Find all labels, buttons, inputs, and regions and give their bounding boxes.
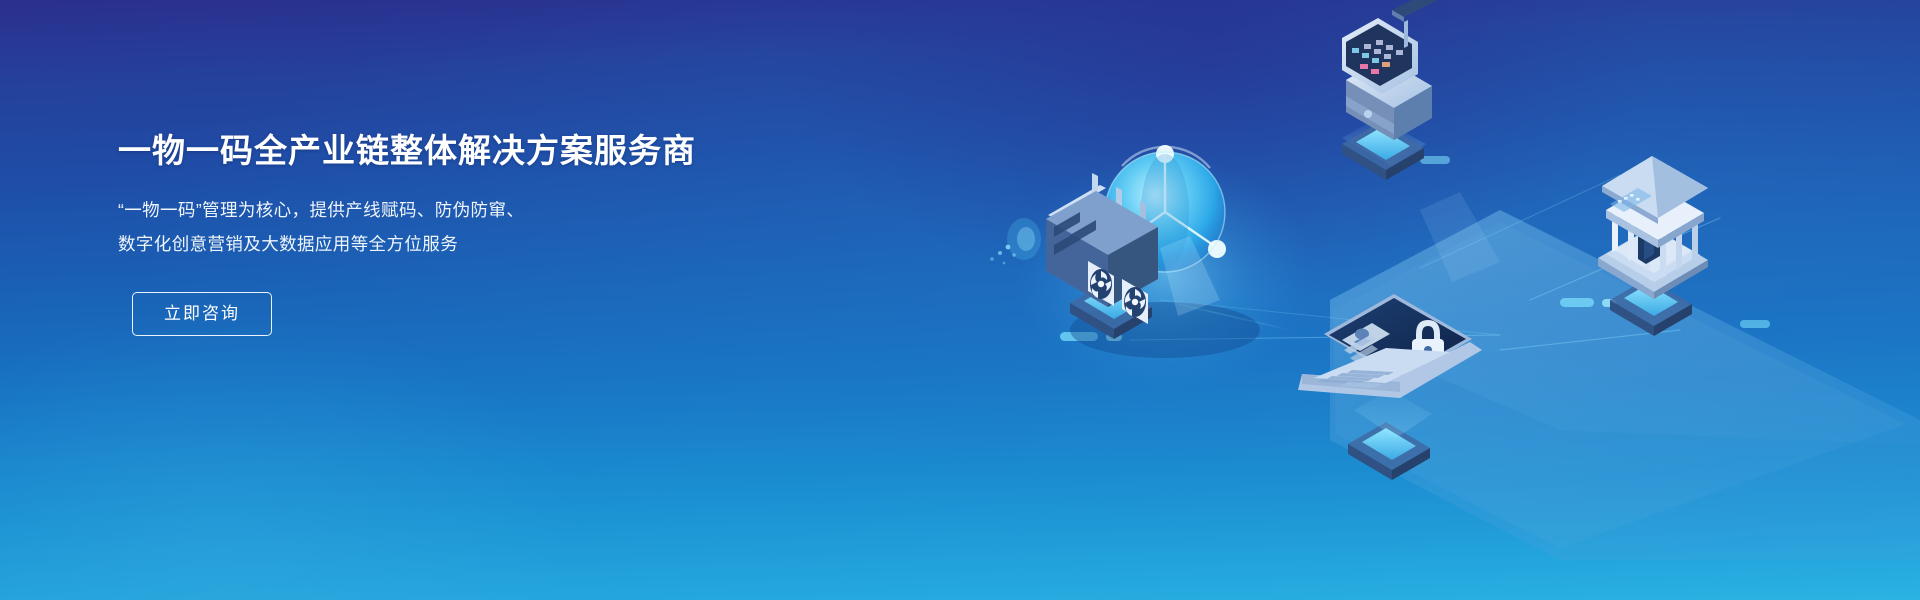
pedestal-pad [1342,122,1424,180]
connection-lines [1130,175,1720,350]
lock-icon [1412,320,1444,365]
isometric-illustration [860,0,1920,600]
server-grille [1054,212,1096,255]
background-glow-left [0,300,600,600]
airflow-particles [990,218,1041,264]
cooling-fan-icons [1088,261,1148,324]
server-rack-icon [990,173,1158,339]
bank-building-icon [1598,156,1708,336]
consult-now-button[interactable]: 立即咨询 [132,292,272,336]
bank-columns [1612,213,1698,279]
network-globe-icon [1015,145,1315,395]
hero-banner: 一物一码全产业链整体解决方案服务商 “一物一码”管理为核心，提供产线赋码、防伪防… [0,0,1920,600]
pos-terminal-icon [1342,0,1444,180]
pedestal-pad [1610,246,1696,336]
server-rails [1048,173,1146,250]
data-packet-icons [1060,156,1770,341]
pedestal-pad [1070,255,1154,339]
page-title: 一物一码全产业链整体解决方案服务商 [118,130,758,171]
hero-copy: 一物一码全产业链整体解决方案服务商 “一物一码”管理为核心，提供产线赋码、防伪防… [118,130,758,336]
pos-keypad [1352,40,1403,74]
hero-subtitle-line-2: 数字化创意营销及大数据应用等全方位服务 [118,227,758,261]
hero-subtitle: “一物一码”管理为核心，提供产线赋码、防伪防窜、 数字化创意营销及大数据应用等全… [118,193,758,261]
laptop-security-icon [1298,294,1482,480]
isometric-plate [1330,210,1920,560]
background-glow-top [760,0,1660,300]
plate-reflections [1160,192,1500,316]
profile-card [1342,323,1390,362]
pedestal-pad [1348,390,1432,480]
keyboard-keys [1317,370,1394,384]
hero-subtitle-line-1: “一物一码”管理为核心，提供产线赋码、防伪防窜、 [118,193,758,227]
